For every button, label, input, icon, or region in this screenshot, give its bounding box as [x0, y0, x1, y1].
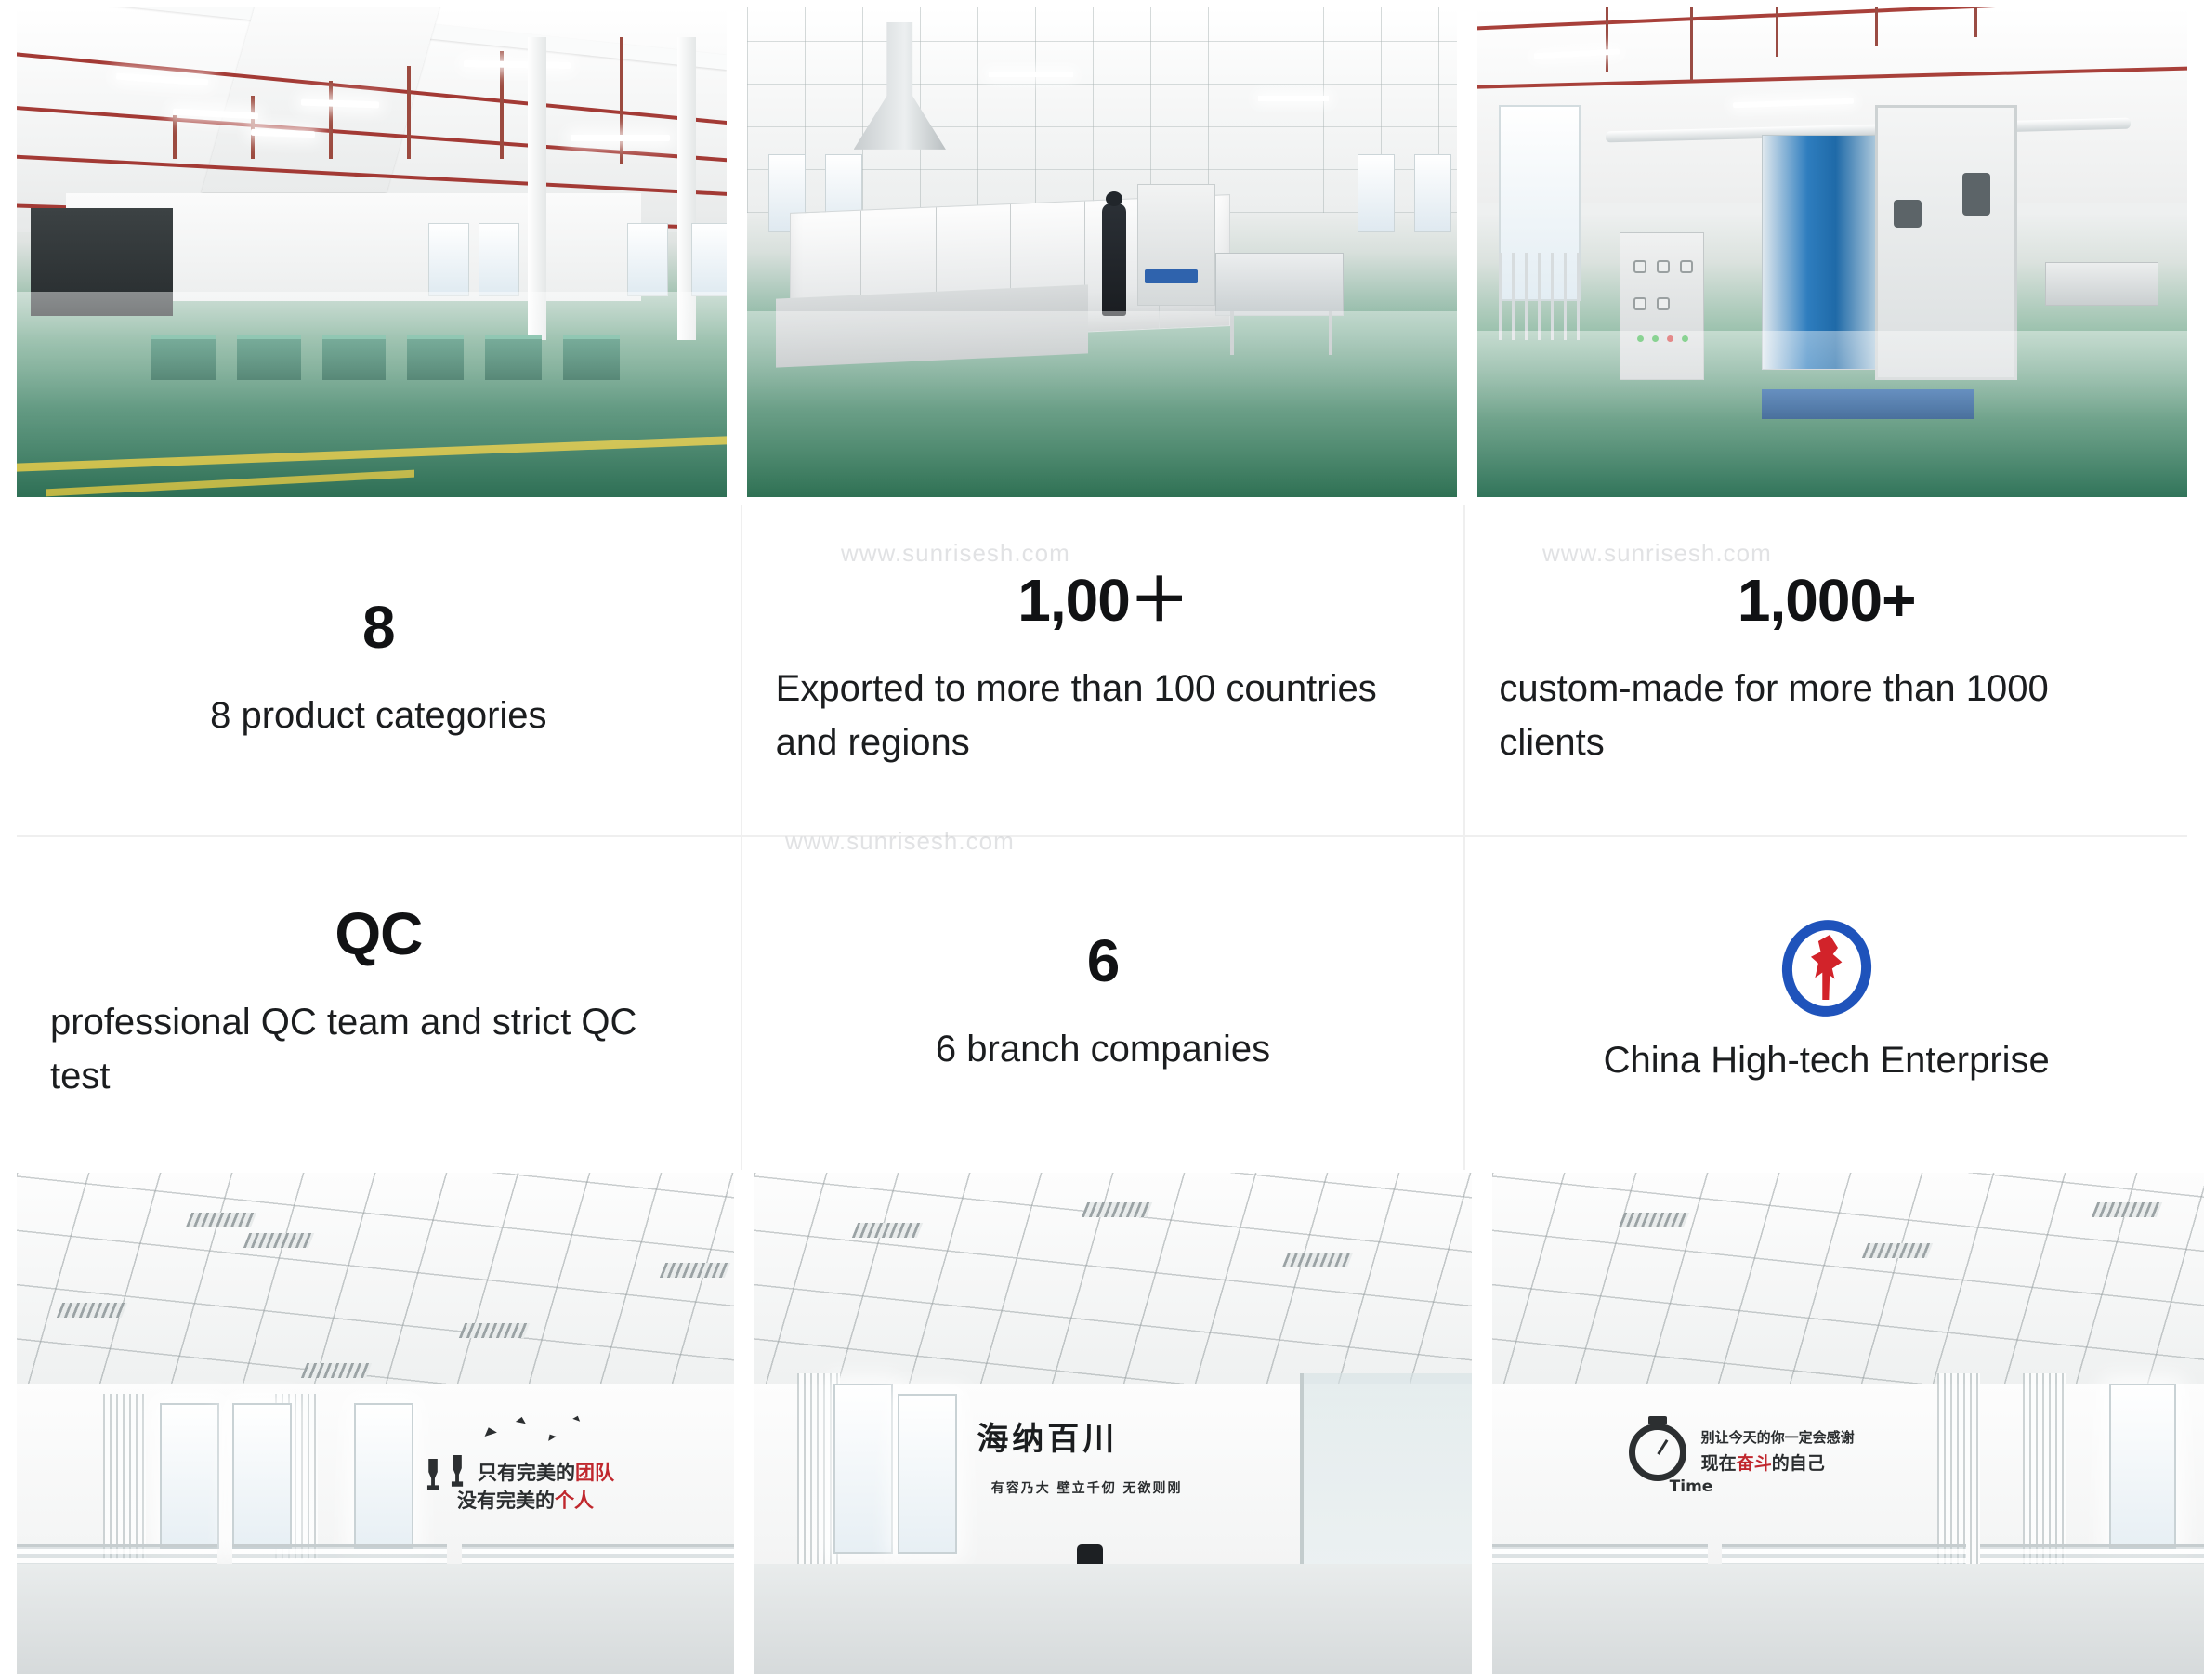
- meeting-room-scene: 海纳百川 有容乃大 壁立千仞 无欲则刚: [754, 1173, 1472, 1674]
- reflow-oven-scene: [747, 7, 1457, 497]
- coating-equipment-scene: [1477, 7, 2187, 497]
- top-photo-row: [0, 0, 2204, 497]
- stat-custom-clients: 1,000+ custom-made for more than 1000 cl…: [1463, 505, 2187, 835]
- stat-qc: QC professional QC team and strict QC te…: [17, 837, 741, 1170]
- decal-line3: 的自己: [1772, 1453, 1825, 1474]
- photo-factory-coating-equipment: [1477, 7, 2187, 497]
- company-profile-infographic: 8 8 product categories 1,00＋ Exported to…: [0, 0, 2204, 1680]
- decal-line1: 别让今天的你一定会感谢: [1701, 1431, 1855, 1446]
- stat-product-categories: 8 8 product categories: [17, 505, 741, 835]
- stats-grid: 8 8 product categories 1,00＋ Exported to…: [17, 505, 2187, 1170]
- stat-value: 1,00＋: [1017, 571, 1188, 630]
- stat-export-countries: 1,00＋ Exported to more than 100 countrie…: [741, 505, 1464, 835]
- decal-line1: 只有完美的: [478, 1462, 575, 1484]
- stat-value: 6: [1087, 931, 1120, 991]
- stats-row-2: QC professional QC team and strict QC te…: [17, 837, 2187, 1170]
- photo-office-cubicle-area: Time 别让今天的你一定会感谢 现在奋斗的自己: [1492, 1173, 2204, 1674]
- stat-caption: Exported to more than 100 countries and …: [776, 662, 1431, 769]
- stat-high-tech-enterprise: China High-tech Enterprise: [1463, 837, 2187, 1170]
- bottom-photo-row: 只有完美的团队 没有完美的个人: [0, 1173, 2204, 1674]
- stat-value: 8: [362, 597, 395, 657]
- stats-row-1: 8 8 product categories 1,00＋ Exported to…: [17, 505, 2187, 837]
- cubicle-office-scene: Time 别让今天的你一定会感谢 现在奋斗的自己: [1492, 1173, 2204, 1674]
- china-high-tech-enterprise-logo-icon: [1782, 920, 1871, 1017]
- decal-line2-accent: 个人: [555, 1490, 594, 1512]
- stat-caption: professional QC team and strict QC test: [50, 995, 707, 1103]
- calligraphy-text: 海纳百川: [977, 1421, 1118, 1458]
- stat-caption: China High-tech Enterprise: [1604, 1033, 2050, 1087]
- stat-caption: 6 branch companies: [936, 1022, 1270, 1076]
- wall-calligraphy: 海纳百川: [977, 1413, 1118, 1459]
- wall-calligraphy-subtitle: 有容乃大 壁立千仞 无欲则刚: [991, 1478, 1183, 1497]
- stat-value: 1,000+: [1738, 571, 1916, 630]
- decal-line2: 没有完美的: [457, 1490, 555, 1512]
- calligraphy-subtitle-text: 有容乃大 壁立千仞 无欲则刚: [991, 1481, 1183, 1496]
- decal-line1-accent: 团队: [575, 1462, 614, 1484]
- photo-office-open-workspace: 只有完美的团队 没有完美的个人: [17, 1173, 734, 1674]
- decal-line2-accent: 奋斗: [1737, 1453, 1772, 1474]
- decal-line2: 现在: [1701, 1453, 1737, 1474]
- stat-branch-companies: 6 6 branch companies: [741, 837, 1464, 1170]
- decal-time-label: Time: [1670, 1477, 1713, 1496]
- workshop-hall-scene: [17, 7, 727, 497]
- stat-value: QC: [335, 904, 422, 964]
- open-office-scene: 只有完美的团队 没有完美的个人: [17, 1173, 734, 1674]
- photo-factory-reflow-oven-line: [747, 7, 1457, 497]
- photo-office-meeting-room: 海纳百川 有容乃大 壁立千仞 无欲则刚: [754, 1173, 1472, 1674]
- stopwatch-icon: [1629, 1424, 1686, 1481]
- stat-caption: 8 product categories: [210, 689, 546, 742]
- photo-factory-workshop-assembly-hall: [17, 7, 727, 497]
- stat-caption: custom-made for more than 1000 clients: [1499, 662, 2154, 769]
